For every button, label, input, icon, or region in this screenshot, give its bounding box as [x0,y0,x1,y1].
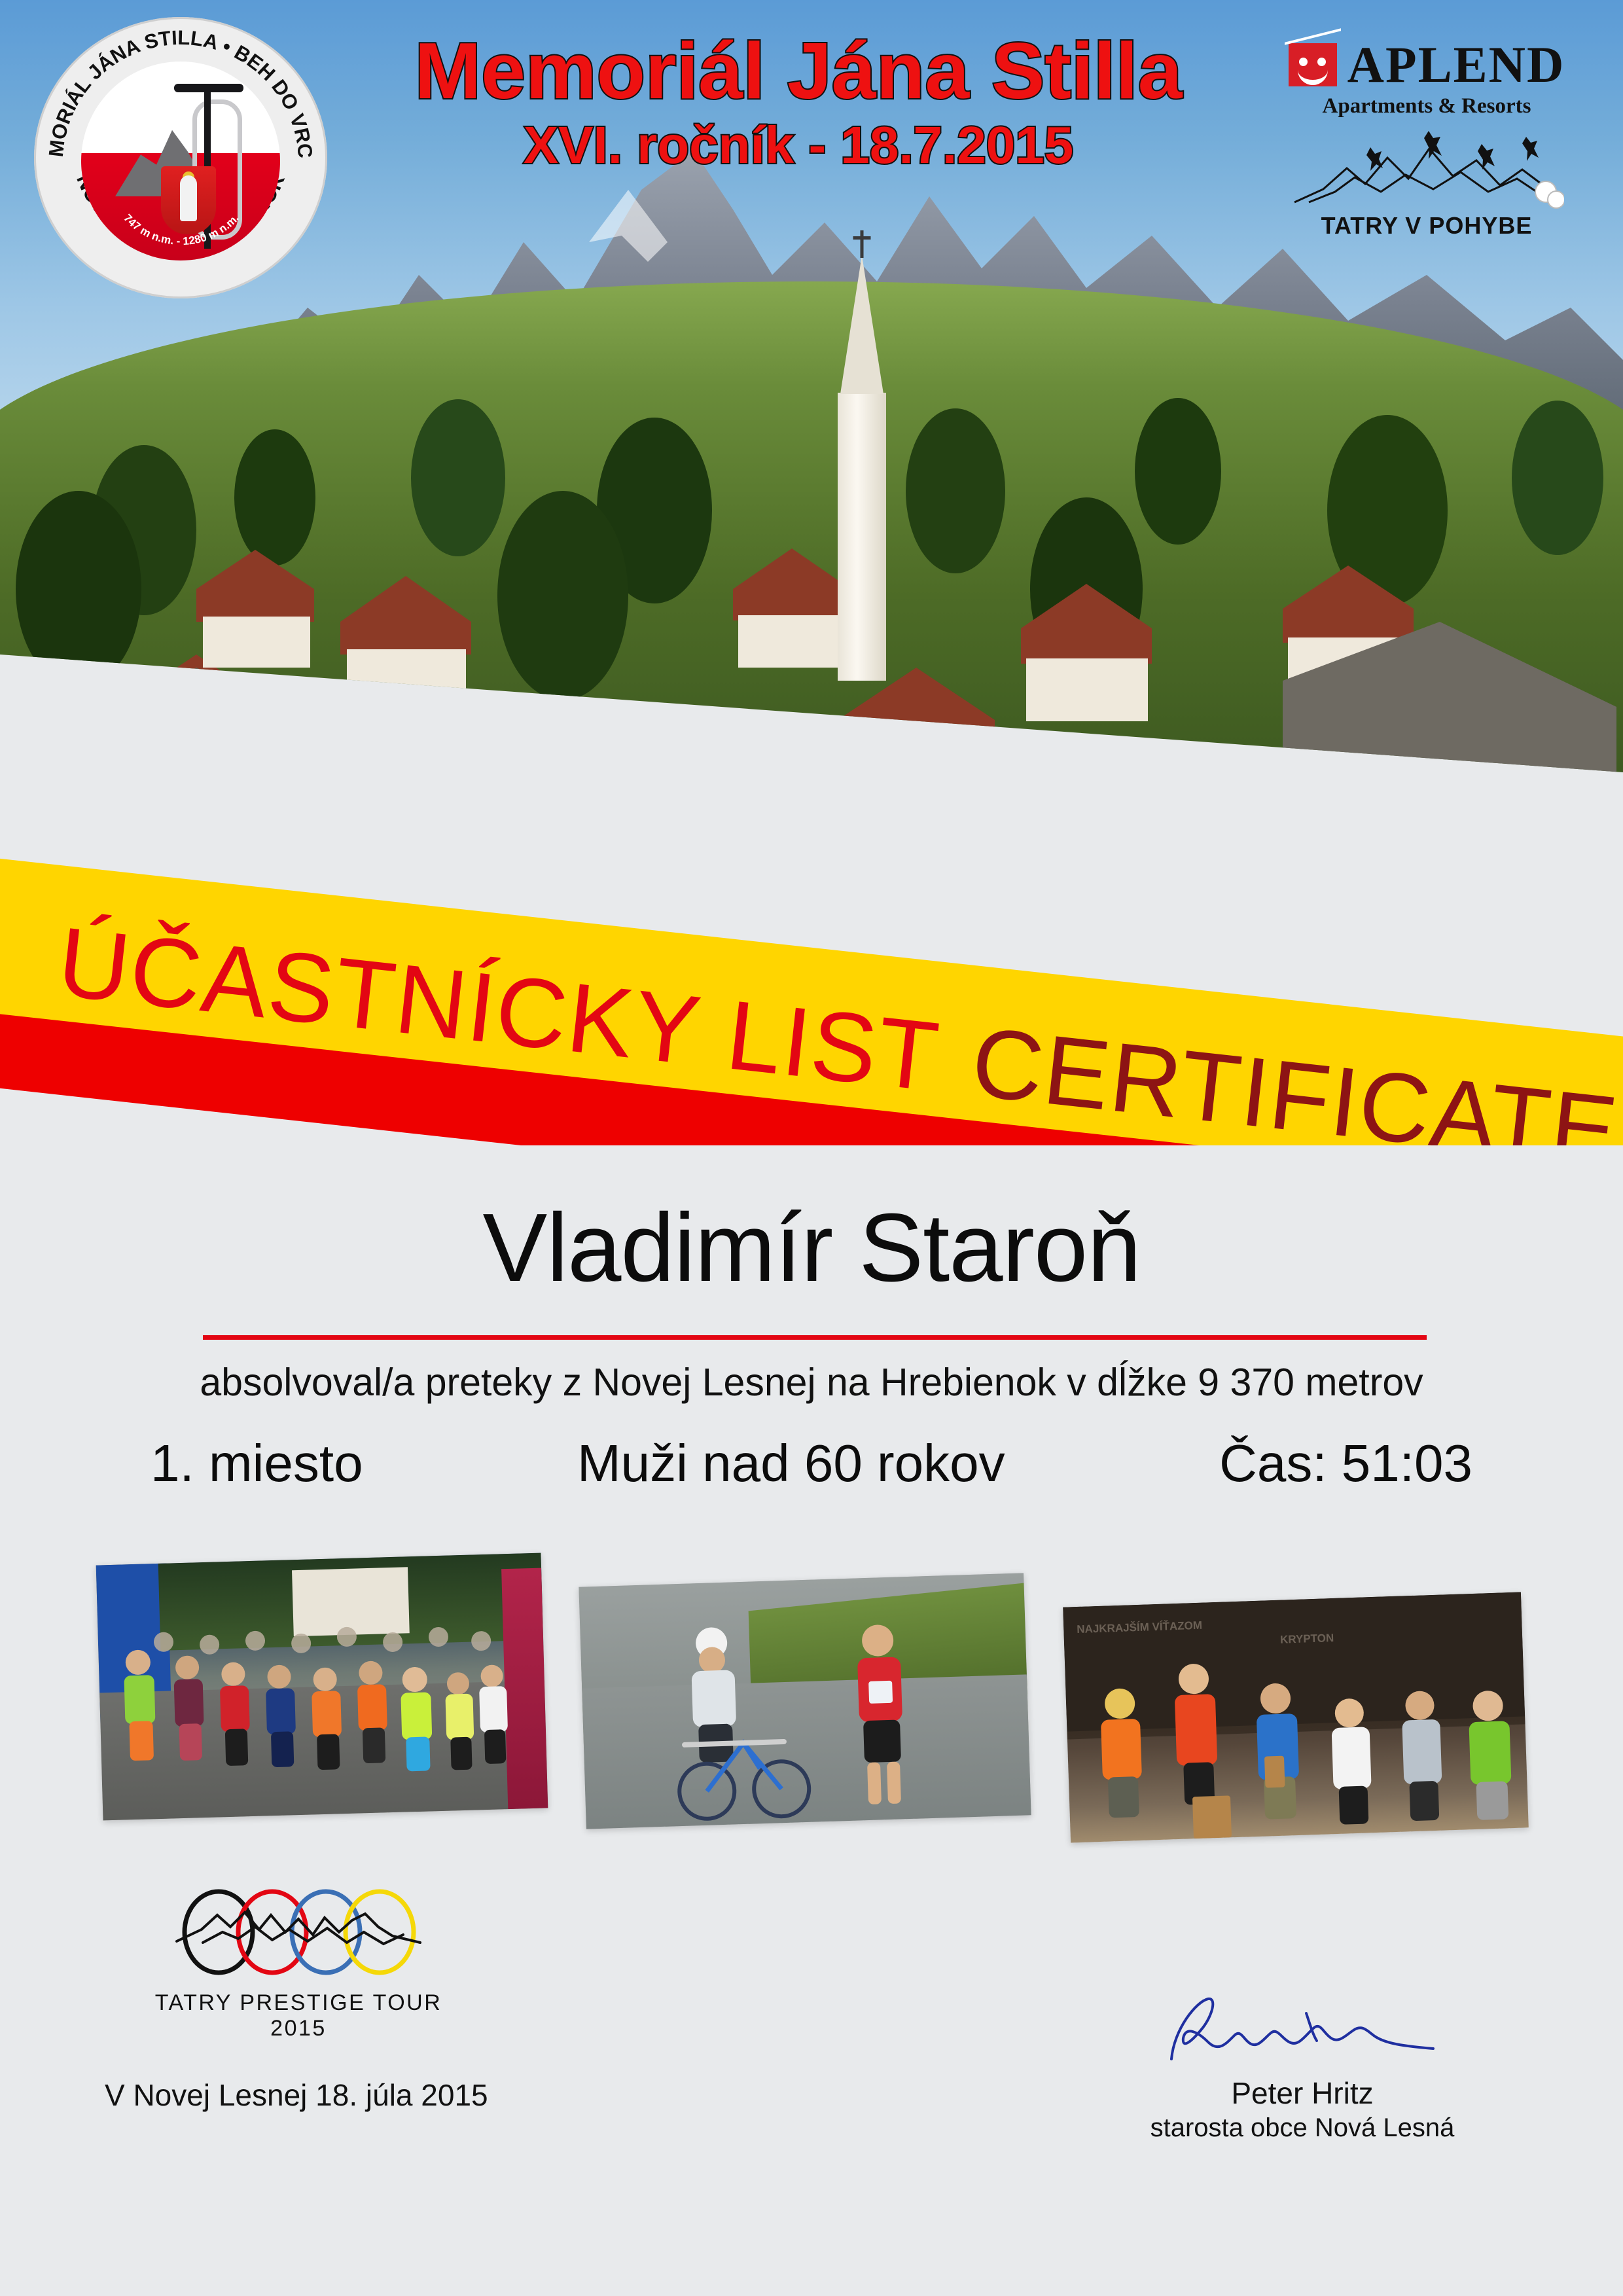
sponsor-tagline: Apartments & Resorts [1270,94,1584,118]
tatry-v-pohybe-logo: TATRY V POHYBE [1270,129,1584,240]
result-category: Muži nad 60 rokov [577,1433,1005,1494]
sponsor-logo-aplend: APLEND Apartments & Resorts [1270,39,1584,240]
cross-icon [861,230,864,258]
event-seal-logo: MEMORIÁL JÁNA STILLA • BEH DO VRCHU NOVÁ… [34,17,327,298]
eye-right-icon [1317,58,1326,66]
eye-left-icon [1299,58,1308,66]
svg-text:747 m n.m. - 1280 m n.m.: 747 m n.m. - 1280 m n.m. [121,212,241,248]
result-time: Čas: 51:03 [1219,1433,1472,1494]
race-description: absolvoval/a preteky z Novej Lesnej na H… [0,1360,1623,1405]
event-title-line1: Memoriál Jána Stilla [366,30,1230,111]
result-place: 1. miesto [151,1433,363,1494]
runners-crowd-icon [96,1553,548,1821]
recipient-name: Vladimír Staroň [0,1193,1623,1304]
signatory-name: Peter Hritz [1073,2075,1531,2111]
tour-logo-label: TATRY PRESTIGE TOUR 2015 [154,1990,442,2041]
seal-elevation-text: 747 m n.m. - 1280 m n.m. [81,62,280,260]
photo-cyclist-and-runner [579,1573,1031,1829]
event-title-line2: XVI. ročník - 18.7.2015 [366,115,1230,175]
svg-text:KRYPTON: KRYPTON [1280,1632,1334,1646]
photo-strip: NAJKRAJŠÍM VÍŤAZOM KRYPTON [0,1551,1623,1839]
signatory-role: starosta obce Nová Lesná [1073,2113,1531,2143]
church-spire [840,255,883,394]
certificate-banner: ÚČASTNÍCKY LISTCERTIFICATE [0,609,1623,1145]
cyclist-and-runner-icon [579,1573,1031,1829]
olympic-rings-mountain-icon [168,1889,429,1981]
sponsor-name: APLEND [1347,39,1565,90]
sponsor-secondary-name: TATRY V POHYBE [1270,212,1584,240]
divider-rule [203,1335,1427,1340]
photo-mass-start [96,1553,548,1821]
certificate-page: MEMORIÁL JÁNA STILLA • BEH DO VRCHU NOVÁ… [0,0,1623,2296]
seal-inner-emblem: 747 m n.m. - 1280 m n.m. [81,62,280,260]
photo-podium-ceremony: NAJKRAJŠÍM VÍŤAZOM KRYPTON [1063,1592,1529,1842]
signature-block: Peter Hritz starosta obce Nová Lesná [1073,1990,1531,2143]
smiley-house-icon [1289,43,1337,86]
mountain-sketch-icon [1289,129,1564,213]
smile-icon [1298,67,1328,85]
tatry-prestige-tour-logo: TATRY PRESTIGE TOUR 2015 [154,1889,442,2041]
place-and-date: V Novej Lesnej 18. júla 2015 [105,2077,488,2113]
handwritten-signature [1145,1990,1459,2068]
event-title: Memoriál Jána Stilla XVI. ročník - 18.7.… [366,30,1230,175]
results-row: 1. miesto Muži nad 60 rokov Čas: 51:03 [151,1433,1472,1494]
podium-winners-icon: NAJKRAJŠÍM VÍŤAZOM KRYPTON [1063,1592,1529,1842]
